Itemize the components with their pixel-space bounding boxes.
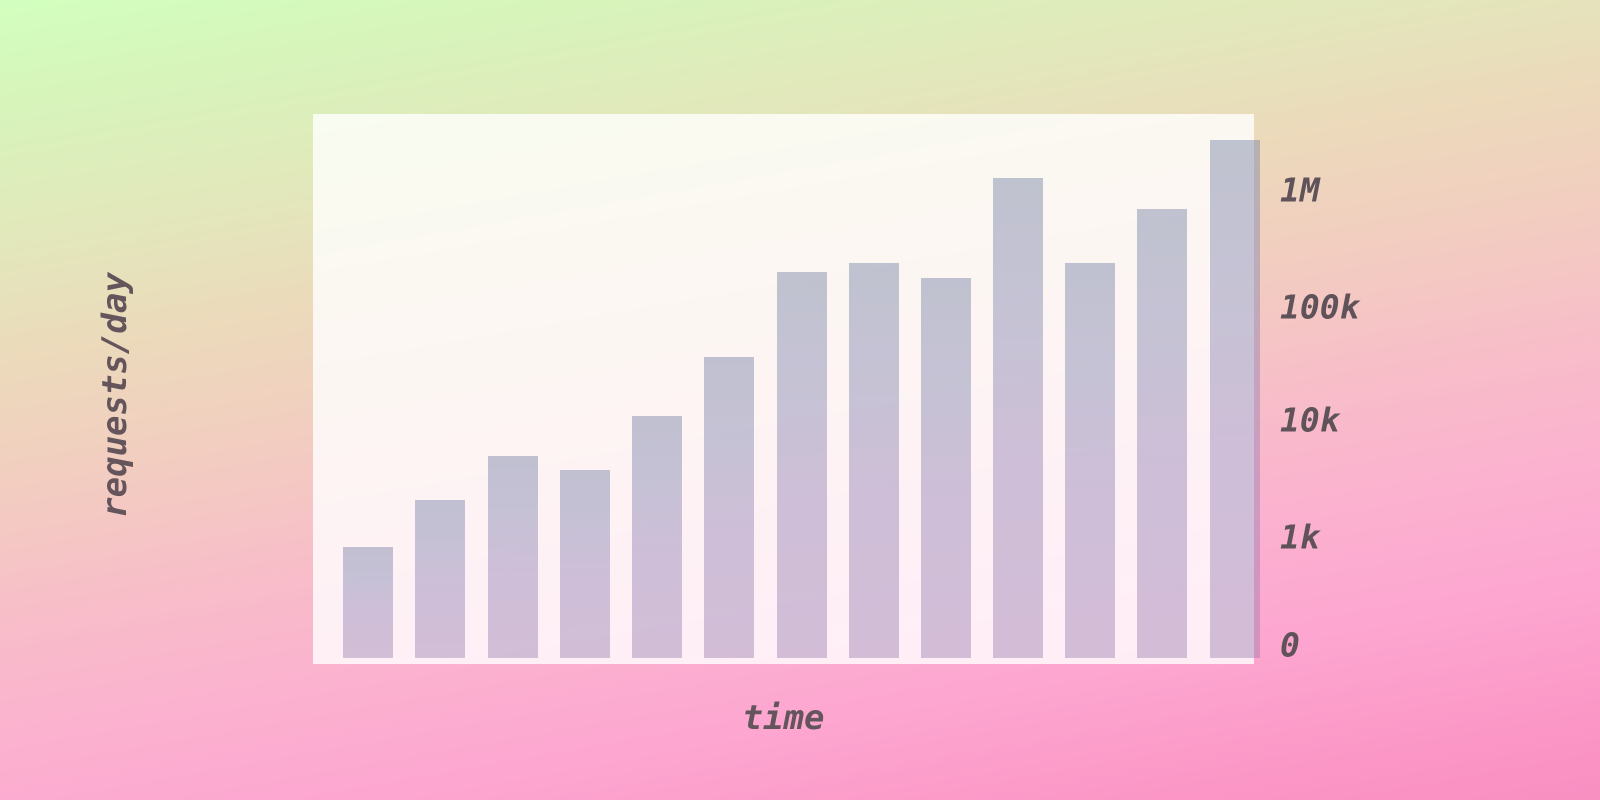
bar <box>1210 140 1260 658</box>
chart-canvas: 1M100k10k1k0 requests/day time <box>0 0 1600 800</box>
bar <box>560 470 610 658</box>
bar <box>777 272 827 658</box>
bar <box>993 178 1043 658</box>
y-tick-label: 0 <box>1280 626 1300 665</box>
bar <box>415 500 465 658</box>
y-axis-title: requests/day <box>95 225 135 565</box>
bar <box>1137 209 1187 658</box>
y-tick-label: 1k <box>1280 518 1320 557</box>
bar <box>488 456 538 658</box>
bar <box>849 263 899 658</box>
bar <box>343 547 393 658</box>
bar <box>921 278 971 658</box>
bar <box>704 357 754 658</box>
x-axis-title: time <box>313 698 1254 738</box>
bar <box>1065 263 1115 658</box>
y-tick-label: 10k <box>1280 401 1340 440</box>
y-tick-label: 100k <box>1280 288 1359 327</box>
bar <box>632 416 682 658</box>
y-tick-label: 1M <box>1280 171 1320 210</box>
